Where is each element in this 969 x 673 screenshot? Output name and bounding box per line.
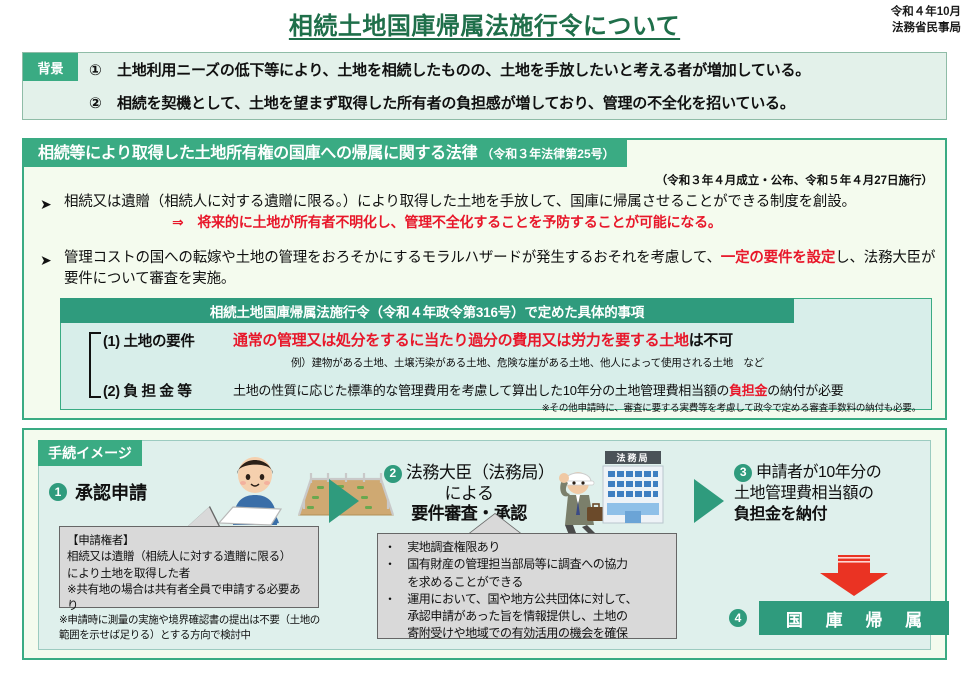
background-item-2: ②相続を契機として、土地を望まず取得した所有者の負担感が増しており、管理の不全化… [89, 92, 795, 113]
background-item-2-number: ② [89, 94, 117, 112]
step-1-footnote: ※申請時に測量の実施や境界確認書の提出は不要（土地の範囲を示せば足りる）とする方… [59, 613, 324, 642]
svg-text:法務局: 法務局 [616, 452, 649, 463]
procedure-inner-panel: 手続イメージ 1 承認申請 [38, 440, 931, 650]
flow-arrow-2-icon [694, 479, 724, 523]
step-2-line1-wrap: 2 法務大臣（法務局） [364, 463, 574, 484]
document-header: 相続土地国庫帰属法施行令について 令和４年10月 法務省民事局 [0, 0, 969, 46]
step-2-bullet-2: ・ 国有財産の管理担当部局等に調査への協力 [384, 556, 670, 573]
step-2-number: 2 [384, 465, 402, 483]
background-item-1: ①土地利用ニーズの低下等により、土地を相続したものの、土地を手放したいと考える者… [89, 59, 810, 80]
background-item-1-number: ① [89, 61, 117, 79]
procedure-section: 手続イメージ 1 承認申請 [22, 428, 947, 660]
law-bullet-2: ➤ 管理コストの国への転嫁や土地の管理をおろそかにするモラルハザードが発生するお… [40, 248, 940, 289]
step-2-bullet-1: ・ 実地調査権限あり [384, 539, 670, 556]
requirement-2-red: 負担金 [729, 383, 767, 398]
callout-line-3: により土地を取得した者 [67, 566, 311, 582]
arrowhead-icon: ➤ [40, 195, 52, 215]
header-meta: 令和４年10月 法務省民事局 [891, 5, 961, 36]
step-3-line1-wrap: 3 申請者が10年分の [734, 463, 944, 484]
law-header-bar: 相続等により取得した土地所有権の国庫への帰属に関する法律 （令和３年法律第25号… [24, 139, 627, 167]
procedure-badge: 手続イメージ [38, 440, 142, 466]
header-date: 令和４年10月 [891, 5, 961, 21]
official-person-illustration [549, 463, 609, 535]
legal-affairs-bureau-building-illustration: 法務局 [601, 449, 665, 525]
law-section: 相続等により取得した土地所有権の国庫への帰属に関する法律 （令和３年法律第25号… [22, 138, 947, 420]
requirement-1-text: 通常の管理又は処分をするに当たり過分の費用又は労力を要する土地は不可 [233, 329, 733, 350]
law-bullet-2-pre: 管理コストの国への転嫁や土地の管理をおろそかにするモラルハザードが発生するおそれ… [64, 250, 721, 266]
step-3-line3: 負担金を納付 [734, 505, 944, 526]
requirements-bracket [89, 332, 101, 398]
law-bullet-2-red: 一定の要件を設定 [721, 250, 835, 266]
decree-box: 相続土地国庫帰属法施行令（令和４年政令第316号）で定めた具体的事項 (1) 土… [60, 298, 932, 410]
law-bullet-1-text: 相続又は遺贈（相続人に対する遺贈に限る。）により取得した土地を手放して、国庫に帰… [64, 192, 940, 213]
requirement-2-text: 土地の性質に応じた標準的な管理費用を考慮して算出した10年分の土地管理費相当額の… [233, 380, 843, 399]
step-3-line1: 申請者が10年分の [756, 464, 881, 481]
step-2-bullet-3b: 承認申請があった旨を情報提供し、土地の [384, 608, 670, 625]
arrowhead-icon: ➤ [40, 251, 52, 271]
red-down-arrow-icon [814, 553, 894, 597]
step-3-number: 3 [734, 464, 752, 482]
flow-arrow-1-icon [329, 479, 359, 523]
decree-header: 相続土地国庫帰属法施行令（令和４年政令第316号）で定めた具体的事項 [60, 298, 794, 323]
applicant-callout: 【申請権者】 相続又は遺贈（相続人に対する遺贈に限る） により土地を取得した者 … [59, 526, 319, 608]
law-bullet-1: ➤ 相続又は遺贈（相続人に対する遺贈に限る。）により取得した土地を手放して、国庫… [40, 192, 940, 233]
requirement-1-red: 通常の管理又は処分をするに当たり過分の費用又は労力を要する土地 [233, 332, 689, 349]
step-3-line2: 土地管理費相当額の [734, 484, 944, 505]
law-header-number: （令和３年法律第25号） [481, 145, 614, 162]
law-header-title: 相続等により取得した土地所有権の国庫への帰属に関する法律 [38, 139, 477, 163]
step-2-line2: による [364, 484, 574, 505]
callout-line-4: ※共有地の場合は共有者全員で申請する必要あり [67, 582, 311, 615]
requirement-2-label: (2) 負 担 金 等 [103, 380, 192, 401]
law-bullet-2-text: 管理コストの国への転嫁や土地の管理をおろそかにするモラルハザードが発生するおそれ… [64, 248, 940, 289]
header-issuer: 法務省民事局 [891, 21, 961, 37]
background-badge: 背景 [23, 53, 78, 81]
requirement-2-note: ※その他申請時に、審査に要する実費等を考慮して政令で定める審査手数料の納付も必要… [542, 400, 921, 414]
requirement-1-example: 例）建物がある土地、土壌汚染がある土地、危険な崖がある土地、他人によって使用され… [291, 355, 764, 370]
background-item-2-text: 相続を契機として、土地を望まず取得した所有者の負担感が増しており、管理の不全化を… [117, 95, 795, 112]
law-enactment-note: （令和３年４月成立・公布、令和５年４月27日施行） [656, 172, 933, 188]
callout-line-2: 相続又は遺贈（相続人に対する遺贈に限る） [67, 549, 311, 565]
step-2-line1: 法務大臣（法務局） [406, 463, 555, 482]
step-2-bullet-2b: を求めることができる [384, 574, 670, 591]
requirement-1-black: は不可 [689, 332, 733, 349]
requirement-1-label: (1) 土地の要件 [103, 330, 195, 351]
step-1-number: 1 [49, 483, 67, 501]
background-section: 背景 ①土地利用ニーズの低下等により、土地を相続したものの、土地を手放したいと考… [22, 52, 947, 120]
page-title: 相続土地国庫帰属法施行令について [0, 6, 969, 41]
document-page: 相続土地国庫帰属法施行令について 令和４年10月 法務省民事局 背景 ①土地利用… [0, 0, 969, 673]
callout-line-1: 【申請権者】 [67, 533, 311, 549]
step-2-bullet-3: ・ 運用において、国や地方公共団体に対して、 [384, 591, 670, 608]
requirement-2-pre: 土地の性質に応じた標準的な管理費用を考慮して算出した10年分の土地管理費相当額の [233, 383, 729, 398]
application-paper-illustration [215, 503, 285, 527]
step-2-details-box: ・ 実地調査権限あり ・ 国有財産の管理担当部局等に調査への協力 を求めることが… [377, 533, 677, 639]
step-4-result-box: 国 庫 帰 属 [759, 601, 949, 635]
background-item-1-text: 土地利用ニーズの低下等により、土地を相続したものの、土地を手放したいと考える者が… [117, 62, 810, 79]
step-2-box-tail [469, 514, 521, 534]
step-4-number: 4 [729, 609, 747, 627]
callout-tail [187, 507, 219, 527]
step-2-bullet-3c: 寄附受けや地域での有効活用の機会を確保 [384, 625, 670, 642]
requirement-2-post: の納付が必要 [767, 383, 843, 398]
step-1-label: 承認申請 [75, 479, 147, 505]
step-1-title: 1 承認申請 [49, 479, 147, 505]
step-3-title: 3 申請者が10年分の 土地管理費相当額の 負担金を納付 [734, 463, 944, 525]
law-bullet-1-arrow-note: ⇒ 将来的に土地が所有者不明化し、管理不全化することを予防することが可能になる。 [172, 214, 722, 230]
